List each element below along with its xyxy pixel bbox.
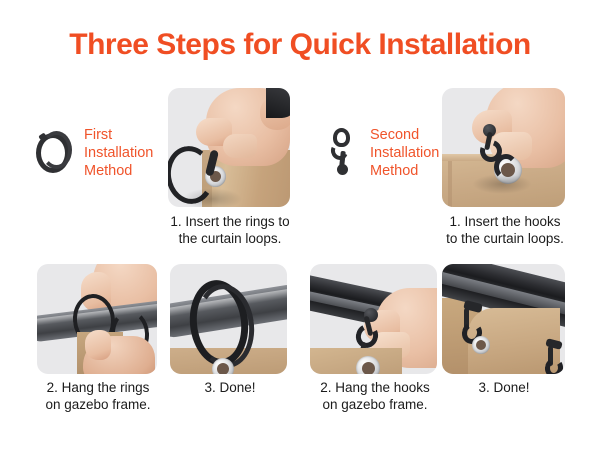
- caption-ring-step2: 2. Hang the rings on gazebo frame.: [26, 379, 170, 413]
- caption-ring-step3: 3. Done!: [176, 379, 284, 396]
- second-method-line2: Installation: [370, 144, 439, 162]
- photo-hands-hanging-ring-on-round-pole: [37, 264, 157, 374]
- second-method-label: Second Installation Method: [326, 126, 439, 180]
- photo-hand-inserting-ring-into-grommet: [168, 88, 290, 207]
- caption-ring-step1: 1. Insert the rings to the curtain loops…: [160, 213, 300, 247]
- caption-ring-step2-line1: 2. Hang the rings: [26, 379, 170, 396]
- second-method-line1: Second: [370, 126, 439, 144]
- caption-ring-step1-line1: 1. Insert the rings to: [160, 213, 300, 230]
- caption-hook-step3: 3. Done!: [450, 379, 558, 396]
- second-method-line3: Method: [370, 162, 439, 180]
- caption-hook-step1: 1. Insert the hooks to the curtain loops…: [432, 213, 578, 247]
- caption-hook-step2-line2: on gazebo frame.: [302, 396, 448, 413]
- curtain-hook-icon: [326, 127, 360, 179]
- first-method-line1: First: [84, 126, 153, 144]
- photo-ring-installed-on-pole-closeup: [170, 264, 287, 374]
- infographic-root: Three Steps for Quick Installation First…: [0, 0, 600, 450]
- caption-hook-step1-line1: 1. Insert the hooks: [432, 213, 578, 230]
- first-method-line2: Installation: [84, 144, 153, 162]
- photo-hand-hanging-hook-on-square-rail: [310, 264, 437, 374]
- photo-hooks-installed-on-rail-closeup: [442, 264, 565, 374]
- first-method-text: First Installation Method: [84, 126, 153, 180]
- caption-ring-step2-line2: on gazebo frame.: [26, 396, 170, 413]
- caption-hook-step2: 2. Hang the hooks on gazebo frame.: [302, 379, 448, 413]
- curtain-ring-icon: [34, 130, 74, 176]
- caption-ring-step1-line2: the curtain loops.: [160, 230, 300, 247]
- caption-hook-step2-line1: 2. Hang the hooks: [302, 379, 448, 396]
- photo-hand-inserting-hook-into-grommet: [442, 88, 565, 207]
- caption-hook-step3-line1: 3. Done!: [450, 379, 558, 396]
- caption-ring-step3-line1: 3. Done!: [176, 379, 284, 396]
- second-method-text: Second Installation Method: [370, 126, 439, 180]
- page-title: Three Steps for Quick Installation: [0, 28, 600, 62]
- first-method-label: First Installation Method: [34, 126, 153, 180]
- first-method-line3: Method: [84, 162, 153, 180]
- caption-hook-step1-line2: to the curtain loops.: [432, 230, 578, 247]
